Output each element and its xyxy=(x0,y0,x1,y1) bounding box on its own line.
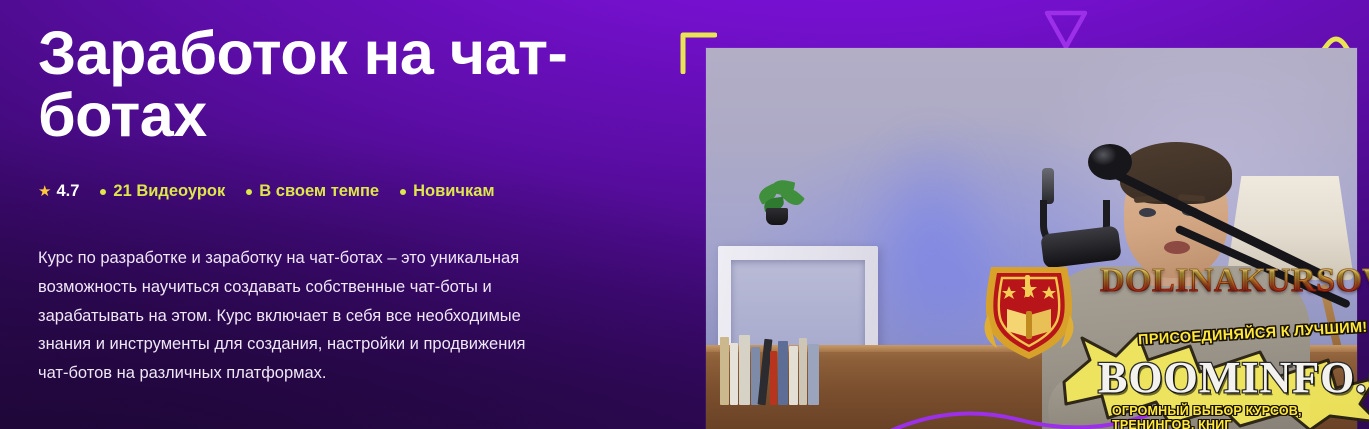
person-mouth xyxy=(1164,241,1190,254)
book xyxy=(778,341,788,405)
book xyxy=(789,346,798,405)
book xyxy=(720,337,729,405)
plant-pot xyxy=(766,208,788,225)
page-title: Заработок на чат-ботах xyxy=(38,22,598,146)
book xyxy=(730,343,738,405)
star-icon: ★ xyxy=(38,184,51,199)
mic-mount-knob xyxy=(1042,168,1054,204)
book xyxy=(739,335,750,405)
bullet-icon xyxy=(100,189,106,195)
meta-item-pace: В своем темпе xyxy=(259,182,379,201)
hero-text-column: Заработок на чат-ботах ★ 4.7 21 Видеоуро… xyxy=(38,22,648,387)
studio-room-scene xyxy=(706,48,1357,429)
shelf-cell xyxy=(731,260,865,356)
instructor-person xyxy=(1058,134,1288,429)
course-description: Курс по разработке и заработку на чат-бо… xyxy=(38,244,543,387)
course-meta-row: ★ 4.7 21 Видеоурок В своем темпе Новичка… xyxy=(38,182,648,201)
book xyxy=(799,338,807,405)
bullet-icon xyxy=(246,189,252,195)
course-hero-banner: Заработок на чат-ботах ★ 4.7 21 Видеоуро… xyxy=(0,0,1369,429)
course-video-preview[interactable] xyxy=(706,48,1357,429)
triangle-outline-icon xyxy=(1040,6,1092,54)
book xyxy=(808,344,819,405)
book xyxy=(770,351,777,405)
bullet-icon xyxy=(400,189,406,195)
person-hair xyxy=(1120,142,1232,204)
person-eye xyxy=(1139,208,1156,217)
mic-joint xyxy=(1088,144,1132,180)
meta-item-level: Новичкам xyxy=(413,182,495,201)
meta-item-lessons: 21 Видеоурок xyxy=(113,182,225,201)
rating-value: 4.7 xyxy=(56,182,79,201)
